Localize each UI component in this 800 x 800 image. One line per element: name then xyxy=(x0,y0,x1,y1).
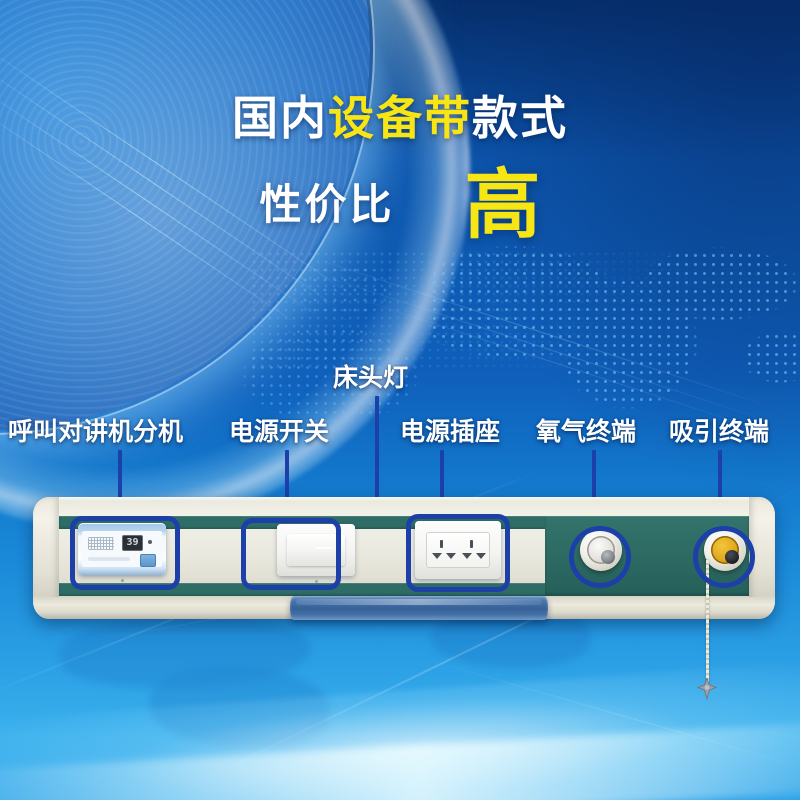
subheadline: 性价比高 xyxy=(0,168,800,244)
promo-image-root: 国内设备带款式 性价比高 呼叫对讲机分机 电源开关 床头灯 电源插座 氧气终端 … xyxy=(0,0,800,800)
bed-lamp-strip xyxy=(290,596,548,620)
headline-part-2-highlight: 设备带 xyxy=(328,92,472,144)
pull-cord-pendant[interactable] xyxy=(695,678,719,704)
callout-label-intercom: 呼叫对讲机分机 xyxy=(8,412,183,448)
callout-label-power-switch: 电源开关 xyxy=(229,412,329,448)
callout-label-suction: 吸引终端 xyxy=(669,412,769,448)
headline-part-1: 国内 xyxy=(232,92,328,144)
highlight-suction xyxy=(693,526,755,588)
headline-part-3: 款式 xyxy=(472,92,568,144)
subheadline-emphasis: 高 xyxy=(465,168,541,244)
callout-label-bed-lamp: 床头灯 xyxy=(333,358,408,394)
dotted-world-map-3 xyxy=(250,235,430,345)
headline: 国内设备带款式 xyxy=(0,82,800,148)
dotted-world-map xyxy=(430,215,800,445)
highlight-power-switch xyxy=(241,518,341,590)
bed-lamp-gloss xyxy=(296,599,542,605)
highlight-oxygen xyxy=(569,526,631,588)
subheadline-text: 性价比 xyxy=(259,181,394,228)
highlight-power-socket xyxy=(406,514,510,592)
highlight-intercom xyxy=(70,516,180,590)
callout-label-power-socket: 电源插座 xyxy=(400,412,500,448)
callout-label-oxygen: 氧气终端 xyxy=(536,412,636,448)
